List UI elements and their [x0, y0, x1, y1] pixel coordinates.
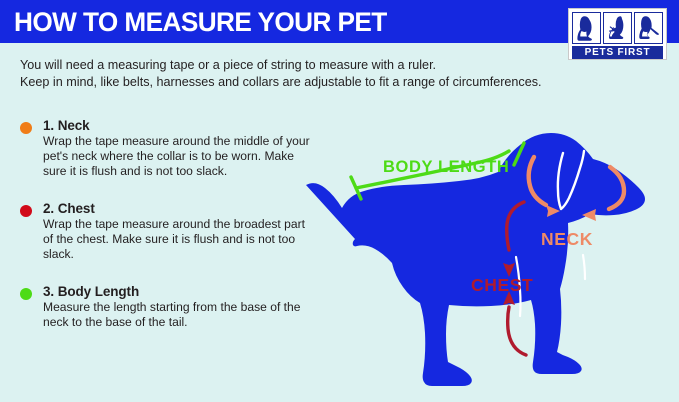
step-item-body-length: 3. Body Length Measure the length starti…: [20, 284, 312, 330]
logo-panel-3: [634, 12, 663, 44]
logo-panel-2: [603, 12, 632, 44]
logo-panel-1: [572, 12, 601, 44]
step-item-chest: 2. Chest Wrap the tape measure around th…: [20, 201, 312, 262]
neck-label: NECK: [541, 229, 593, 249]
step-title: 3. Body Length: [43, 284, 312, 299]
dog-sitting-alert-icon: [635, 13, 662, 43]
body-length-label: BODY LENGTH: [383, 158, 509, 176]
logo-panel-group: [572, 12, 663, 44]
dog-begging-icon: [604, 13, 631, 43]
intro-line-1: You will need a measuring tape or a piec…: [20, 57, 620, 74]
intro-line-2: Keep in mind, like belts, harnesses and …: [20, 74, 620, 91]
step-bullet-icon: [20, 205, 32, 217]
step-bullet-icon: [20, 122, 32, 134]
infographic-root: HOW TO MEASURE YOUR PET PETS FIRST: [0, 0, 679, 402]
chest-arrow-lower-curve: [508, 307, 526, 355]
dog-sitting-icon: [573, 13, 600, 43]
step-description: Wrap the tape measure around the broades…: [43, 217, 312, 262]
dog-hindleg-line: [583, 255, 585, 279]
step-description: Measure the length starting from the bas…: [43, 300, 312, 330]
chest-label: CHEST: [471, 275, 533, 295]
step-bullet-icon: [20, 288, 32, 300]
step-item-neck: 1. Neck Wrap the tape measure around the…: [20, 118, 312, 179]
page-title: HOW TO MEASURE YOUR PET: [14, 7, 387, 38]
steps-list: 1. Neck Wrap the tape measure around the…: [20, 118, 312, 352]
step-description: Wrap the tape measure around the middle …: [43, 134, 312, 179]
brand-logo: PETS FIRST: [568, 8, 667, 60]
step-title: 1. Neck: [43, 118, 312, 133]
dog-diagram: BODY LENGTH NECK CHEST: [288, 105, 679, 402]
intro-text: You will need a measuring tape or a piec…: [20, 57, 620, 91]
step-title: 2. Chest: [43, 201, 312, 216]
